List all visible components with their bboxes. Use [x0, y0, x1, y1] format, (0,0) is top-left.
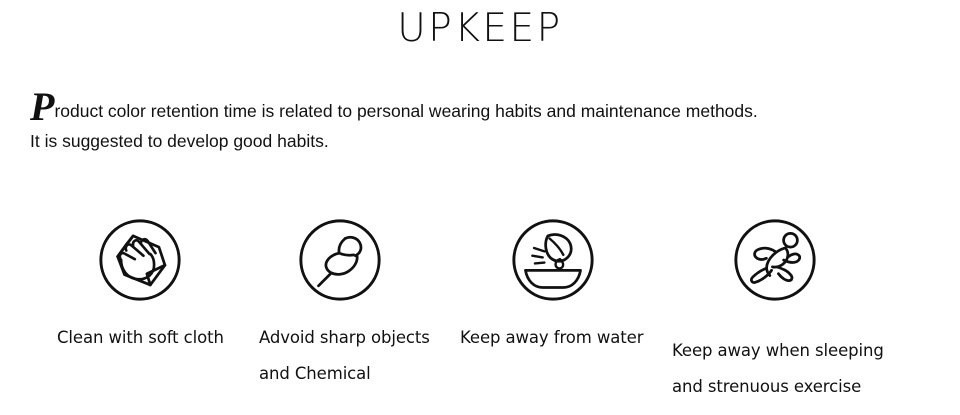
running-person-icon	[732, 217, 818, 303]
caption-line: Keep away from water	[460, 320, 643, 356]
care-item-3	[510, 217, 596, 303]
faucet-water-basin-icon	[510, 217, 596, 303]
icon-row	[0, 217, 960, 309]
intro-line-1: roduct color retention time is related t…	[54, 101, 757, 121]
caption-keep-away-when-sleeping: Keep away when sleeping and strenuous ex…	[672, 333, 884, 405]
push-pin-icon	[297, 217, 383, 303]
caption-row: Clean with soft cloth Advoid sharp objec…	[0, 0, 960, 415]
caption-line: Clean with soft cloth	[57, 320, 224, 356]
caption-line: Keep away when sleeping	[672, 333, 884, 369]
caption-line: and strenuous exercise	[672, 369, 884, 405]
care-item-1	[97, 217, 183, 303]
care-item-4	[732, 217, 818, 303]
intro-dropcap: P	[30, 84, 54, 129]
caption-keep-away-from-water: Keep away from water	[460, 320, 643, 356]
intro-block: Product color retention time is related …	[30, 96, 930, 156]
caption-clean-with-soft-cloth: Clean with soft cloth	[57, 320, 224, 356]
caption-line: Advoid sharp objects	[259, 320, 430, 356]
intro-paragraph: Product color retention time is related …	[30, 96, 930, 156]
caption-avoid-sharp-objects: Advoid sharp objects and Chemical	[259, 320, 430, 392]
caption-line: and Chemical	[259, 356, 430, 392]
hand-with-cloth-icon	[97, 217, 183, 303]
care-item-2	[297, 217, 383, 303]
intro-line-2: It is suggested to develop good habits.	[30, 131, 329, 151]
page-title: UPKEEP	[0, 8, 960, 51]
